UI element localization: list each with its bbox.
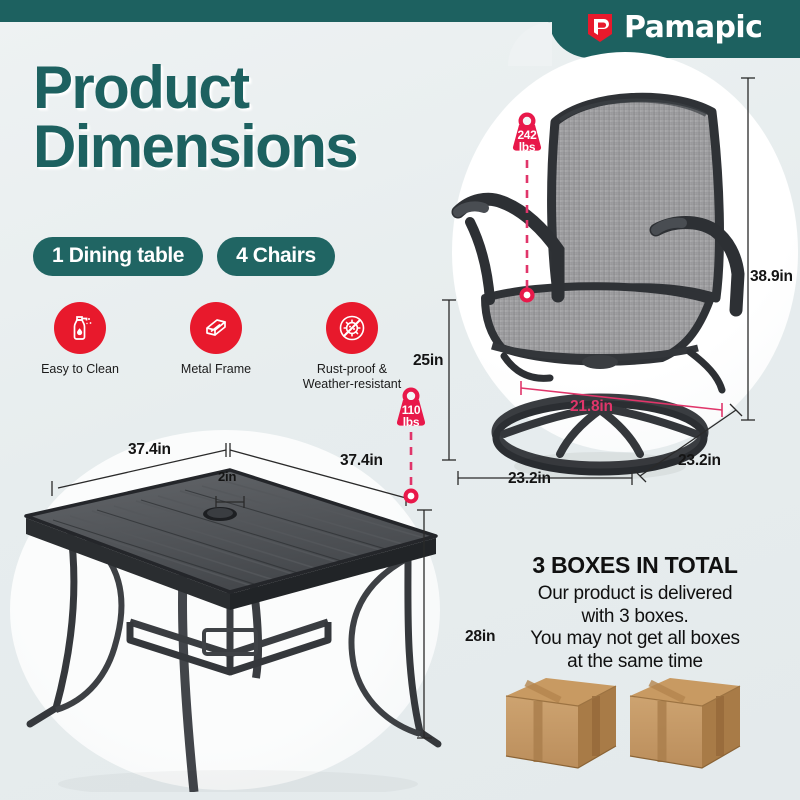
page-title-line-1: Product [33, 58, 463, 117]
boxes-description: Our product is delivered with 3 boxes. Y… [470, 583, 800, 673]
feature-label-easy-to-clean: Easy to Clean [24, 362, 136, 377]
umbrella-hole-label: 2in [218, 469, 236, 484]
feature-list: Easy to Clean Metal Frame [24, 302, 408, 393]
table-width-label: 37.4in [128, 441, 171, 459]
rust-proof-icon [326, 302, 378, 354]
chair-width-label: 23.2in [508, 470, 551, 488]
chair-height-label: 38.9in [750, 268, 793, 286]
table-weight-text: 110lbs [389, 404, 433, 428]
cardboard-boxes-illustration [500, 672, 800, 787]
table-depth-label: 37.4in [340, 452, 383, 470]
chair-weight-unit: lbs [519, 140, 535, 154]
brand-name: Pamapic [624, 10, 762, 45]
chair-seat-height-label: 25in [413, 352, 443, 370]
chair-weight-badge: 242lbs [505, 112, 549, 163]
rust-proof-line2: Weather-resistant [303, 377, 401, 391]
feature-easy-to-clean: Easy to Clean [24, 302, 136, 393]
product-contents-pills: 1 Dining table 4 Chairs [33, 237, 335, 276]
chair-depth-label: 23.2in [678, 452, 721, 470]
feature-rust-proof: Rust-proof &Weather-resistant [296, 302, 408, 393]
spray-bottle-icon [54, 302, 106, 354]
boxes-line-4: at the same time [470, 651, 800, 674]
table-weight-unit: lbs [403, 415, 419, 429]
boxes-line-2: with 3 boxes. [470, 606, 800, 629]
pamapic-logo-mark-icon [585, 12, 615, 42]
chair-weight-pointer [515, 160, 541, 310]
brand-logo: Pamapic [585, 8, 762, 46]
box-1 [506, 678, 616, 768]
chair-base-diameter-label: 21.8in [570, 398, 613, 416]
pill-dining-table: 1 Dining table [33, 237, 203, 276]
page-title-line-2: Dimensions [33, 117, 463, 176]
product-dimensions-infographic: Pamapic Product Dimensions 1 Dining tabl… [0, 0, 800, 800]
rust-proof-line1: Rust-proof & [317, 362, 387, 376]
pill-chairs: 4 Chairs [217, 237, 335, 276]
feature-label-metal-frame: Metal Frame [160, 362, 272, 377]
feature-metal-frame: Metal Frame [160, 302, 272, 393]
chair-weight-text: 242lbs [505, 129, 549, 153]
boxes-info-block: 3 BOXES IN TOTAL Our product is delivere… [470, 552, 800, 673]
table-weight-badge: 110lbs [389, 387, 433, 438]
boxes-title: 3 BOXES IN TOTAL [470, 552, 800, 579]
metal-sheets-icon [190, 302, 242, 354]
chair-dimension-lines [400, 60, 800, 490]
boxes-line-1: Our product is delivered [470, 583, 800, 606]
table-weight-pointer [399, 432, 425, 510]
page-title: Product Dimensions [33, 58, 463, 177]
box-2 [630, 678, 740, 768]
boxes-line-3: You may not get all boxes [470, 628, 800, 651]
